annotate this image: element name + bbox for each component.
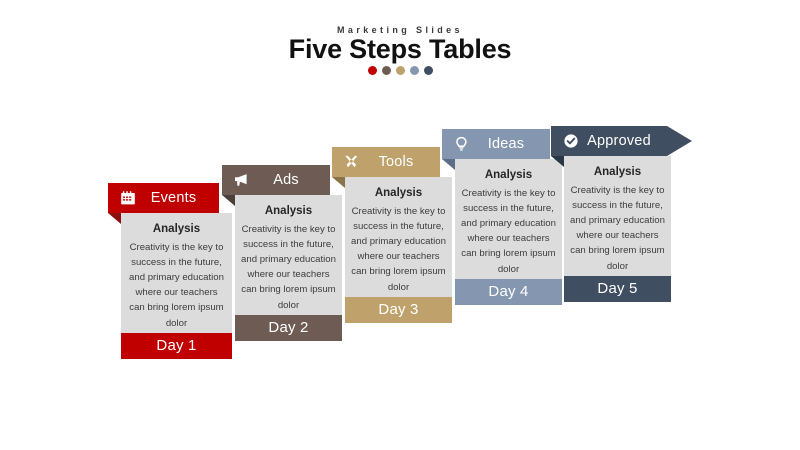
- step-card-1: AnalysisCreativity is the key to success…: [121, 213, 232, 359]
- color-dot-2: [382, 66, 391, 75]
- step-heading-4: Analysis: [461, 167, 556, 185]
- step-day-label-5: Day 5: [564, 276, 671, 302]
- page-title: Five Steps Tables: [0, 34, 800, 65]
- step-card-body-3: AnalysisCreativity is the key to success…: [345, 177, 452, 297]
- color-dot-3: [396, 66, 405, 75]
- step-day-label-2: Day 2: [235, 315, 342, 341]
- step-text-1: Creativity is the key to success in the …: [127, 240, 226, 331]
- step-heading-3: Analysis: [351, 185, 446, 203]
- step-day-label-3: Day 3: [345, 297, 452, 323]
- step-card-body-1: AnalysisCreativity is the key to success…: [121, 213, 232, 333]
- step-card-3: AnalysisCreativity is the key to success…: [345, 177, 452, 323]
- step-banner-fold-2: [222, 195, 235, 206]
- step-arrow-head: [667, 126, 692, 156]
- step-banner-2[interactable]: Ads: [222, 165, 330, 195]
- color-dot-1: [368, 66, 377, 75]
- step-banner-label-5: Approved: [581, 133, 667, 149]
- lightbulb-icon: [451, 134, 472, 155]
- step-banner-1[interactable]: Events: [108, 183, 219, 213]
- color-dot-row: [0, 66, 800, 75]
- step-heading-5: Analysis: [570, 164, 665, 182]
- step-banner-label-2: Ads: [252, 172, 330, 188]
- step-day-label-1: Day 1: [121, 333, 232, 359]
- tools-icon: [341, 152, 362, 173]
- step-banner-fold-1: [108, 213, 121, 224]
- step-card-5: AnalysisCreativity is the key to success…: [564, 156, 671, 302]
- step-card-body-5: AnalysisCreativity is the key to success…: [564, 156, 671, 276]
- step-card-4: AnalysisCreativity is the key to success…: [455, 159, 562, 305]
- calendar-icon: [117, 188, 138, 209]
- step-banner-fold-3: [332, 177, 345, 188]
- step-banner-label-4: Ideas: [472, 136, 550, 152]
- step-card-body-4: AnalysisCreativity is the key to success…: [455, 159, 562, 279]
- step-text-3: Creativity is the key to success in the …: [351, 204, 446, 295]
- slide-canvas: Marketing Slides Five Steps Tables Analy…: [0, 0, 800, 450]
- color-dot-4: [410, 66, 419, 75]
- step-day-label-4: Day 4: [455, 279, 562, 305]
- step-banner-3[interactable]: Tools: [332, 147, 440, 177]
- step-heading-2: Analysis: [241, 203, 336, 221]
- step-card-2: AnalysisCreativity is the key to success…: [235, 195, 342, 341]
- step-banner-label-3: Tools: [362, 154, 440, 170]
- step-banner-label-1: Events: [138, 190, 219, 206]
- step-heading-1: Analysis: [127, 221, 226, 239]
- megaphone-icon: [231, 170, 252, 191]
- color-dot-5: [424, 66, 433, 75]
- check-circle-icon: [560, 131, 581, 152]
- step-text-5: Creativity is the key to success in the …: [570, 183, 665, 274]
- step-banner-5[interactable]: Approved: [551, 126, 667, 156]
- step-banner-fold-4: [442, 159, 455, 170]
- step-text-4: Creativity is the key to success in the …: [461, 186, 556, 277]
- step-card-body-2: AnalysisCreativity is the key to success…: [235, 195, 342, 315]
- step-text-2: Creativity is the key to success in the …: [241, 222, 336, 313]
- step-banner-4[interactable]: Ideas: [442, 129, 550, 159]
